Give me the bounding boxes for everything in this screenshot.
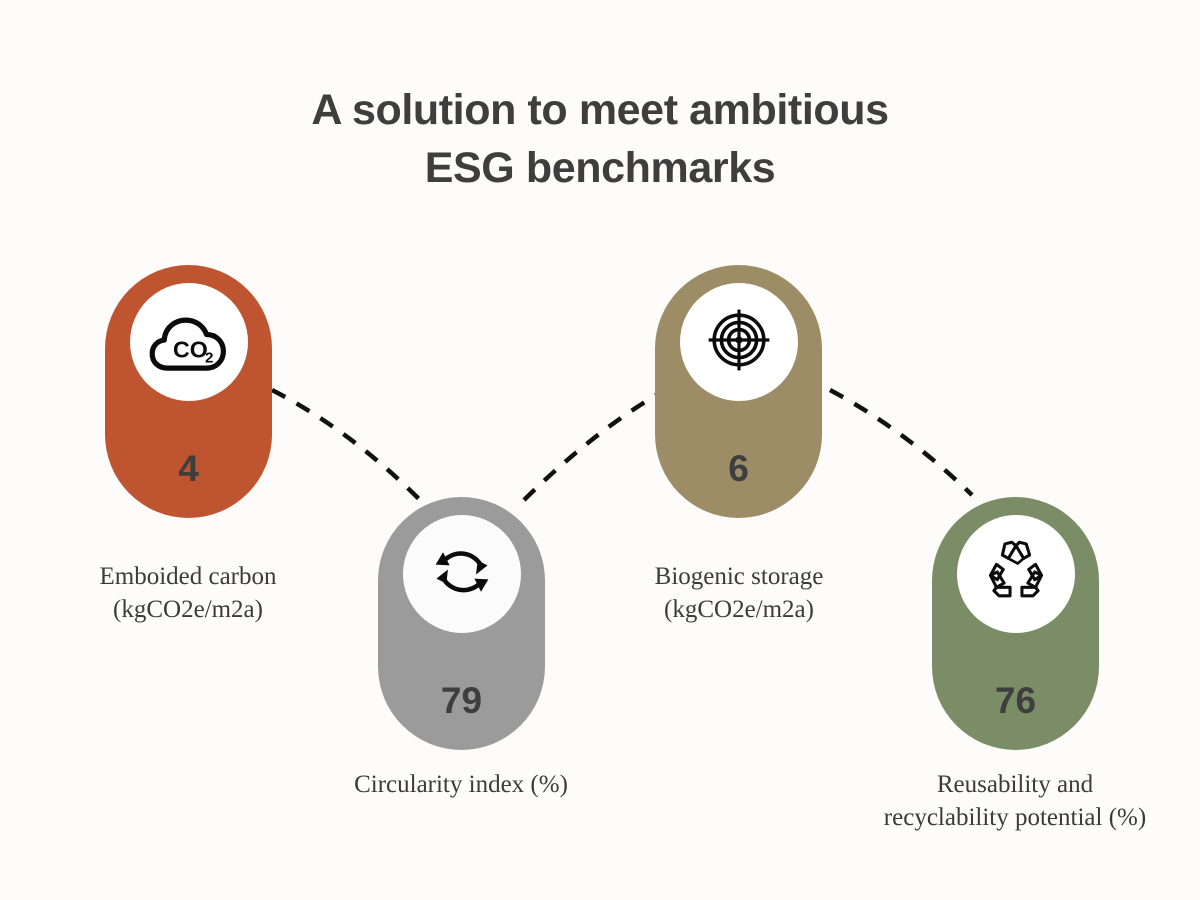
metric-caption-embodied-carbon: Emboided carbon (kgCO2e/m2a): [38, 560, 338, 626]
map-pin-shape: [680, 283, 798, 413]
infographic-canvas: A solution to meet ambitious ESG benchma…: [0, 0, 1200, 900]
connector-2-3: [524, 390, 665, 500]
map-pin-shape: CO 2: [130, 283, 248, 413]
metric-caption-biogenic-storage: Biogenic storage (kgCO2e/m2a): [589, 560, 889, 626]
metric-card-biogenic-storage[interactable]: 6: [655, 265, 822, 518]
recycling-triangle-icon: [982, 538, 1050, 606]
co2-text: CO: [173, 336, 208, 362]
metric-value-reusability-recyclability: 76: [932, 682, 1099, 719]
connector-1-2: [272, 390, 420, 500]
metric-value-embodied-carbon: 4: [105, 450, 272, 487]
metric-caption-reusability-recyclability: Reusability and recyclability potential …: [855, 768, 1175, 834]
co2-cloud-icon: CO 2: [149, 309, 229, 375]
metric-value-biogenic-storage: 6: [655, 450, 822, 487]
metric-value-circularity-index: 79: [378, 682, 545, 719]
map-pin-shape: [957, 515, 1075, 645]
target-bullseye-icon: [707, 308, 771, 372]
map-pin-shape: [403, 515, 521, 645]
metric-card-circularity-index[interactable]: 79: [378, 497, 545, 750]
metric-card-embodied-carbon[interactable]: CO 2 4: [105, 265, 272, 518]
metric-caption-circularity-index: Circularity index (%): [311, 768, 611, 801]
circular-arrows-icon: [429, 539, 495, 605]
metric-card-reusability-recyclability[interactable]: 76: [932, 497, 1099, 750]
connector-3-4: [830, 390, 972, 495]
page-title: A solution to meet ambitious ESG benchma…: [0, 82, 1200, 197]
co2-subscript: 2: [205, 349, 213, 366]
